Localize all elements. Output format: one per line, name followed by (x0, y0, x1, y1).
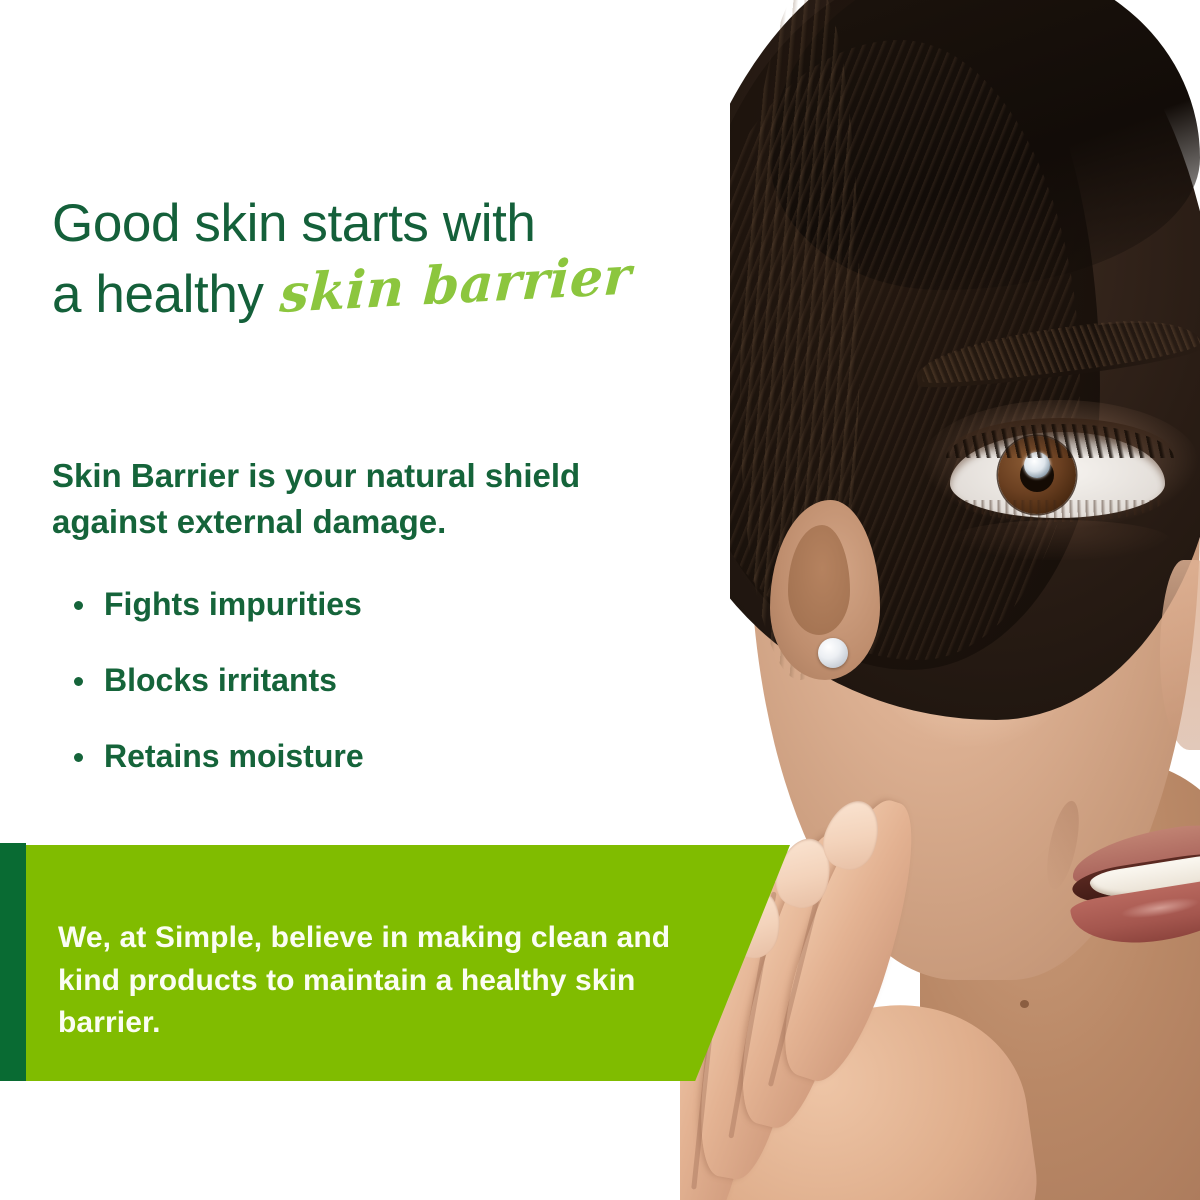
banner-text: We, at Simple, believe in making clean a… (58, 917, 678, 1045)
bullet-dot-icon (74, 753, 83, 762)
subheading: Skin Barrier is your natural shield agai… (52, 453, 702, 544)
brand-statement-banner: We, at Simple, believe in making clean a… (0, 845, 790, 1081)
cheek-mole (1020, 1000, 1029, 1008)
benefit-label: Fights impurities (104, 586, 362, 622)
headline-line-1: Good skin starts with (52, 194, 536, 253)
ad-creative: Good skin starts with a healthy skin bar… (0, 0, 1200, 1200)
banner-accent-stripe (0, 843, 26, 1081)
page-title: Good skin starts with a healthy skin bar… (52, 188, 742, 331)
list-item: Fights impurities (70, 588, 590, 620)
list-item: Retains moisture (70, 740, 590, 772)
benefit-label: Blocks irritants (104, 662, 337, 698)
benefit-label: Retains moisture (104, 738, 364, 774)
list-item: Blocks irritants (70, 664, 590, 696)
pearl-earring (818, 638, 848, 668)
benefits-list: Fights impurities Blocks irritants Retai… (70, 588, 590, 816)
headline-line-2-plain: a healthy (52, 265, 278, 324)
under-eye-shadow (950, 520, 1170, 560)
bullet-dot-icon (74, 677, 83, 686)
headline-script-accent: skin barrier (278, 241, 633, 330)
bullet-dot-icon (74, 601, 83, 610)
